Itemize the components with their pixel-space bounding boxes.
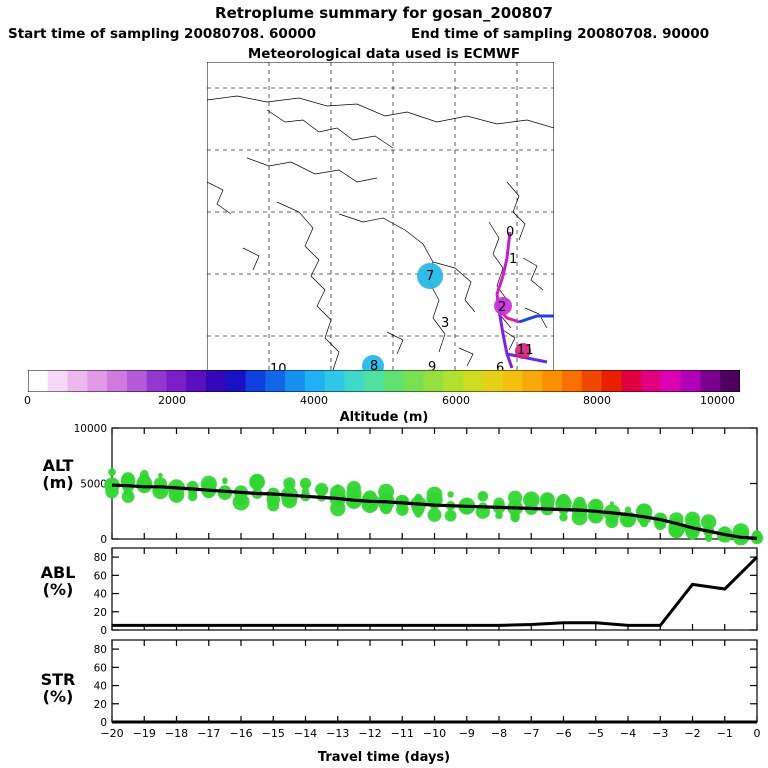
map-label: 7: [426, 269, 434, 284]
colorbar-tick: 2000: [158, 394, 186, 407]
map-label: 2: [498, 300, 506, 315]
colorbar-tick: 6000: [442, 394, 470, 407]
colorbar-tick: 0: [24, 394, 31, 407]
svg-text:−6: −6: [555, 727, 571, 740]
svg-text:40: 40: [94, 681, 107, 693]
svg-text:60: 60: [94, 662, 107, 674]
svg-text:80: 80: [94, 644, 107, 656]
xaxis-title: Travel time (days): [0, 750, 768, 765]
map-label: 1: [509, 252, 517, 267]
svg-text:40: 40: [94, 589, 107, 601]
svg-text:80: 80: [94, 552, 107, 564]
svg-text:−20: −20: [100, 727, 123, 740]
map-label: 3: [441, 316, 449, 331]
svg-text:0: 0: [754, 727, 761, 740]
svg-text:−15: −15: [262, 727, 285, 740]
svg-text:−16: −16: [229, 727, 252, 740]
svg-text:−8: −8: [491, 727, 507, 740]
svg-text:−9: −9: [459, 727, 475, 740]
map-label: 11: [517, 343, 534, 358]
svg-text:−13: −13: [326, 727, 349, 740]
page-title: Retroplume summary for gosan_200807: [0, 4, 768, 22]
colorbar-tick: 4000: [300, 394, 328, 407]
svg-text:−3: −3: [652, 727, 668, 740]
svg-text:5000: 5000: [80, 479, 107, 491]
svg-text:20: 20: [94, 607, 107, 619]
svg-text:−12: −12: [358, 727, 381, 740]
svg-text:60: 60: [94, 570, 107, 582]
map-label: 0: [506, 225, 514, 240]
met-data-label: Meteorological data used is ECMWF: [0, 46, 768, 62]
end-time-label: End time of sampling 20080708. 90000: [411, 26, 709, 42]
svg-text:−11: −11: [391, 727, 414, 740]
svg-text:−18: −18: [165, 727, 188, 740]
svg-text:−7: −7: [523, 727, 539, 740]
svg-text:0: 0: [100, 625, 107, 637]
colorbar-ticklabels: 0 2000 4000 6000 8000 10000: [0, 394, 768, 410]
start-time-label: Start time of sampling 20080708. 60000: [8, 26, 316, 42]
svg-text:10000: 10000: [74, 423, 107, 435]
colorbar: [28, 370, 740, 392]
svg-text:−2: −2: [684, 727, 700, 740]
svg-text:−19: −19: [133, 727, 156, 740]
map-panel: 0 1 2 7 3 9 8 10 11 6: [207, 62, 554, 374]
svg-text:−4: −4: [620, 727, 636, 740]
svg-text:−17: −17: [197, 727, 220, 740]
svg-text:−5: −5: [588, 727, 604, 740]
colorbar-tick: 8000: [583, 394, 611, 407]
svg-text:0: 0: [100, 534, 107, 546]
svg-text:−1: −1: [717, 727, 733, 740]
svg-text:20: 20: [94, 699, 107, 711]
colorbar-tick: 10000: [700, 394, 735, 407]
svg-text:−10: −10: [423, 727, 446, 740]
svg-text:−14: −14: [294, 727, 317, 740]
timeseries-panels: 0500010000020406080020406080−20−19−18−17…: [0, 420, 768, 740]
